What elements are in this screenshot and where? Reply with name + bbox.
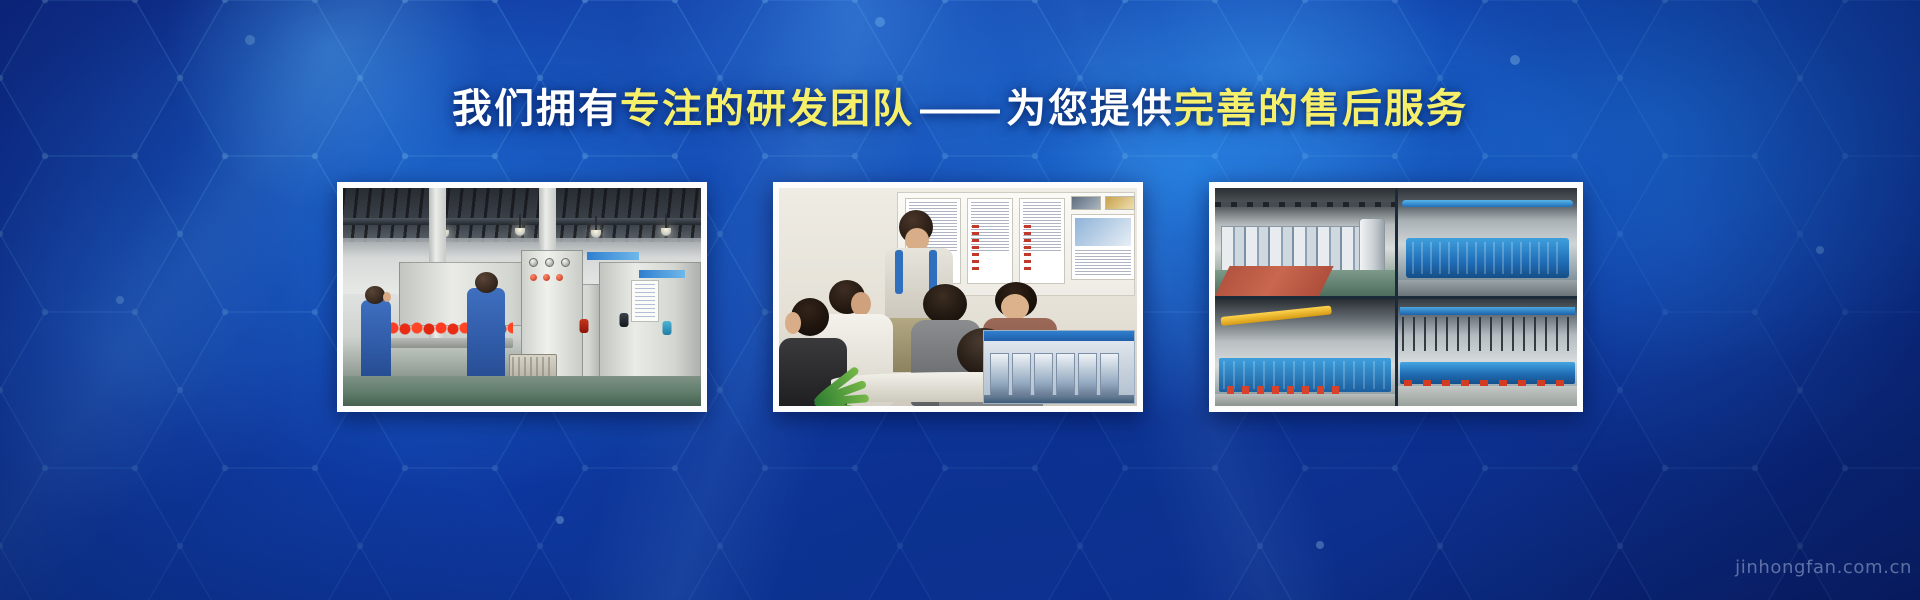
roof-beam (343, 218, 701, 225)
vase-red (567, 330, 601, 404)
collage-cell-workshop-aisle (1215, 188, 1395, 296)
product-vases-overlay (565, 302, 697, 406)
photo-team-meeting (779, 188, 1137, 406)
photo-coating-workshop (343, 188, 701, 406)
worker-head (365, 286, 385, 304)
photo-frame-coating-workshop[interactable] (337, 182, 707, 412)
collage-cell-blue-oven (1398, 188, 1578, 296)
indicator-light (556, 274, 563, 281)
worker-figure (361, 300, 391, 386)
machine-label (639, 270, 685, 278)
promo-banner: 我们拥有专注的研发团队——为您提供完善的售后服务 (0, 0, 1920, 600)
potted-plant (785, 344, 861, 406)
poster-diagram (1071, 214, 1135, 280)
control-knob (529, 258, 538, 267)
site-watermark: jinhongfan.com.cn (1735, 557, 1912, 578)
vase-cyan (649, 332, 685, 404)
indicator-light (530, 274, 537, 281)
vase-dark (607, 324, 641, 404)
photo-production-line (1215, 188, 1577, 406)
headline: 我们拥有专注的研发团队——为您提供完善的售后服务 (0, 86, 1920, 132)
worker-head (475, 272, 498, 293)
worker-face (383, 292, 391, 302)
control-knob (545, 258, 554, 267)
equipment-photo-inset (983, 330, 1135, 404)
poster-thumbnail (1071, 196, 1101, 210)
photo-row (0, 182, 1920, 414)
headline-segment-5: 完善的售后服务 (1174, 87, 1468, 131)
poster-thumbnail (1105, 196, 1135, 210)
photo-frame-production-line[interactable] (1209, 182, 1583, 412)
machine-label (587, 252, 639, 260)
collage-cell-hanging-line (1398, 299, 1578, 407)
headline-dash: —— (914, 87, 1006, 131)
collage-cell-conveyor (1215, 299, 1395, 407)
control-knob (561, 258, 570, 267)
photo-frame-team-meeting[interactable] (773, 182, 1143, 412)
headline-segment-4: 为您提供 (1006, 87, 1174, 131)
headline-segment-2: 专注的研发团队 (620, 87, 914, 131)
poster-document (967, 198, 1013, 284)
poster-document (1019, 198, 1065, 284)
indicator-light (543, 274, 550, 281)
headline-segment-1: 我们拥有 (452, 87, 620, 131)
